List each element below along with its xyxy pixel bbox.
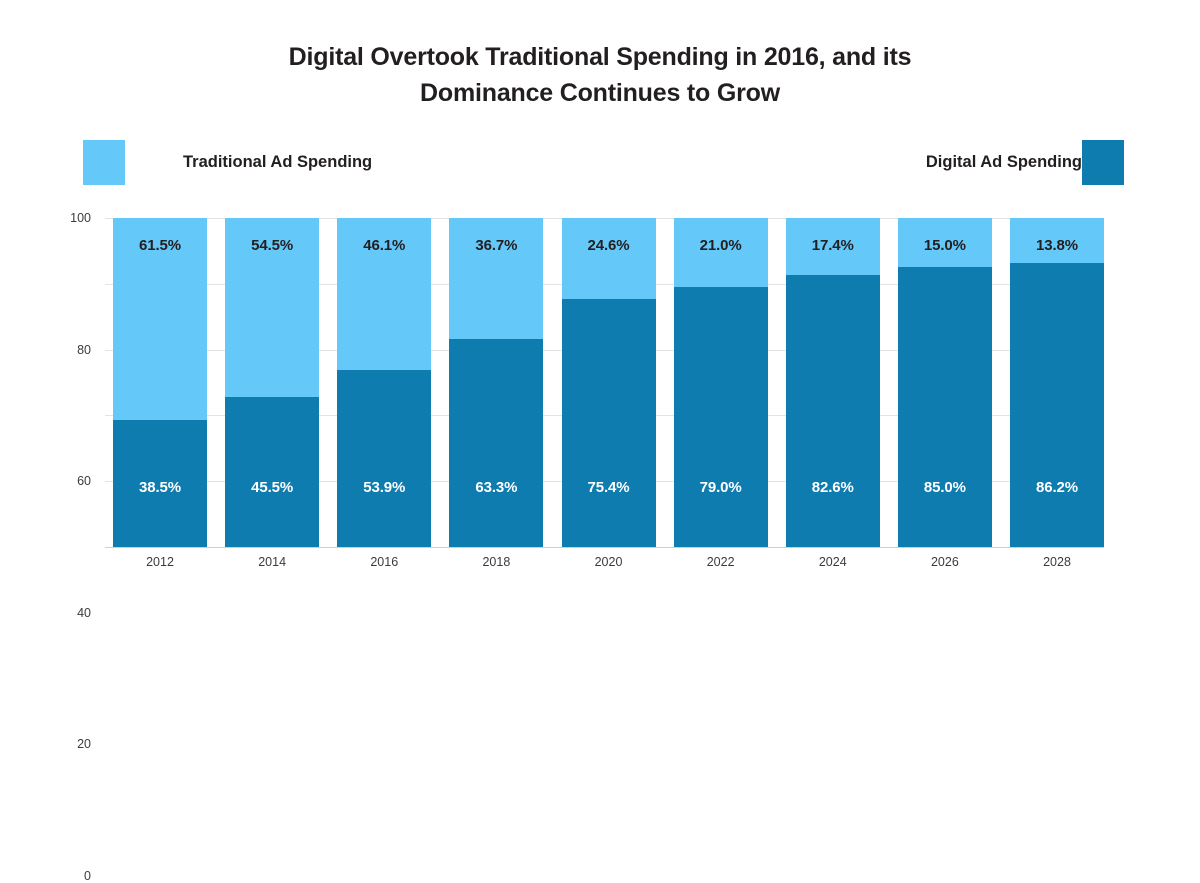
bar-value-label-traditional: 15.0% <box>898 237 992 254</box>
bar-value-label-digital: 75.4% <box>562 479 656 496</box>
bar-segment-traditional[interactable]: 13.8% <box>1010 218 1104 263</box>
bar-column[interactable]: 17.4%82.6%2024 <box>786 218 880 547</box>
bar-column[interactable]: 24.6%75.4%2020 <box>562 218 656 547</box>
bar-segment-digital[interactable]: 75.4% <box>562 299 656 547</box>
bar-value-label-traditional: 21.0% <box>674 237 768 254</box>
bar-value-label-digital: 79.0% <box>674 479 768 496</box>
bar-value-label-traditional: 46.1% <box>337 237 431 254</box>
x-axis-tick-label: 2024 <box>786 555 880 569</box>
bar-value-label-digital: 85.0% <box>898 479 992 496</box>
bar-column[interactable]: 13.8%86.2%2028 <box>1010 218 1104 547</box>
x-axis-tick-label: 2014 <box>225 555 319 569</box>
plot-area: 020406080100 61.5%38.5%201254.5%45.5%201… <box>113 218 1104 547</box>
x-axis-tick-label: 2020 <box>562 555 656 569</box>
bar-segment-traditional[interactable]: 46.1% <box>337 218 431 370</box>
legend-item-digital[interactable]: Digital Ad Spending <box>868 140 1124 185</box>
x-axis-tick-label: 2012 <box>113 555 207 569</box>
y-axis-tick-label: 80 <box>77 343 91 357</box>
bar-value-label-digital: 45.5% <box>225 479 319 496</box>
legend-item-traditional[interactable]: Traditional Ad Spending <box>83 140 372 185</box>
bar-segment-digital[interactable]: 82.6% <box>786 275 880 547</box>
bar-value-label-digital: 38.5% <box>113 479 207 496</box>
legend-label-digital: Digital Ad Spending <box>926 153 1082 172</box>
bar-group: 61.5%38.5%201254.5%45.5%201446.1%53.9%20… <box>113 218 1104 547</box>
x-axis-tick-label: 2026 <box>898 555 992 569</box>
y-axis-tick-label: 40 <box>77 606 91 620</box>
y-axis-tick-label: 20 <box>77 737 91 751</box>
x-axis-tick-label: 2016 <box>337 555 431 569</box>
bar-segment-traditional[interactable]: 15.0% <box>898 218 992 267</box>
bar-column[interactable]: 61.5%38.5%2012 <box>113 218 207 547</box>
bar-segment-digital[interactable]: 79.0% <box>674 287 768 547</box>
x-axis-tick-label: 2022 <box>674 555 768 569</box>
bar-segment-digital[interactable]: 63.3% <box>449 339 543 547</box>
x-axis-tick-label: 2018 <box>449 555 543 569</box>
y-axis-tick-label: 60 <box>77 474 91 488</box>
bar-value-label-traditional: 61.5% <box>113 237 207 254</box>
chart-page: Digital Overtook Traditional Spending in… <box>0 0 1200 600</box>
bar-segment-digital[interactable]: 53.9% <box>337 370 431 547</box>
bar-value-label-digital: 63.3% <box>449 479 543 496</box>
legend-swatch-traditional <box>83 140 125 185</box>
bar-segment-traditional[interactable]: 61.5% <box>113 218 207 420</box>
bar-column[interactable]: 21.0%79.0%2022 <box>674 218 768 547</box>
bar-segment-traditional[interactable]: 21.0% <box>674 218 768 287</box>
bar-segment-digital[interactable]: 38.5% <box>113 420 207 547</box>
bar-column[interactable]: 46.1%53.9%2016 <box>337 218 431 547</box>
page-title: Digital Overtook Traditional Spending in… <box>0 40 1200 111</box>
x-axis-line: 0 <box>105 547 1104 548</box>
bar-segment-traditional[interactable]: 24.6% <box>562 218 656 299</box>
legend-swatch-digital <box>1082 140 1124 185</box>
bar-segment-traditional[interactable]: 54.5% <box>225 218 319 397</box>
bar-segment-digital[interactable]: 45.5% <box>225 397 319 547</box>
bar-value-label-traditional: 24.6% <box>562 237 656 254</box>
legend-label-traditional: Traditional Ad Spending <box>183 153 372 172</box>
bar-segment-traditional[interactable]: 17.4% <box>786 218 880 275</box>
y-axis-tick-label: 0 <box>84 869 91 883</box>
x-axis-tick-label: 2028 <box>1010 555 1104 569</box>
bar-segment-digital[interactable]: 85.0% <box>898 267 992 547</box>
y-axis-tick-label: 100 <box>70 211 91 225</box>
bar-value-label-traditional: 13.8% <box>1010 237 1104 254</box>
bar-value-label-digital: 53.9% <box>337 479 431 496</box>
bar-value-label-digital: 82.6% <box>786 479 880 496</box>
bar-segment-digital[interactable]: 86.2% <box>1010 263 1104 547</box>
page-title-line-1: Digital Overtook Traditional Spending in… <box>0 40 1200 76</box>
bar-value-label-traditional: 17.4% <box>786 237 880 254</box>
bar-column[interactable]: 54.5%45.5%2014 <box>225 218 319 547</box>
bar-column[interactable]: 36.7%63.3%2018 <box>449 218 543 547</box>
bar-column[interactable]: 15.0%85.0%2026 <box>898 218 992 547</box>
bar-value-label-traditional: 36.7% <box>449 237 543 254</box>
bar-value-label-digital: 86.2% <box>1010 479 1104 496</box>
page-title-line-2: Dominance Continues to Grow <box>0 76 1200 112</box>
bar-value-label-traditional: 54.5% <box>225 237 319 254</box>
bar-segment-traditional[interactable]: 36.7% <box>449 218 543 339</box>
